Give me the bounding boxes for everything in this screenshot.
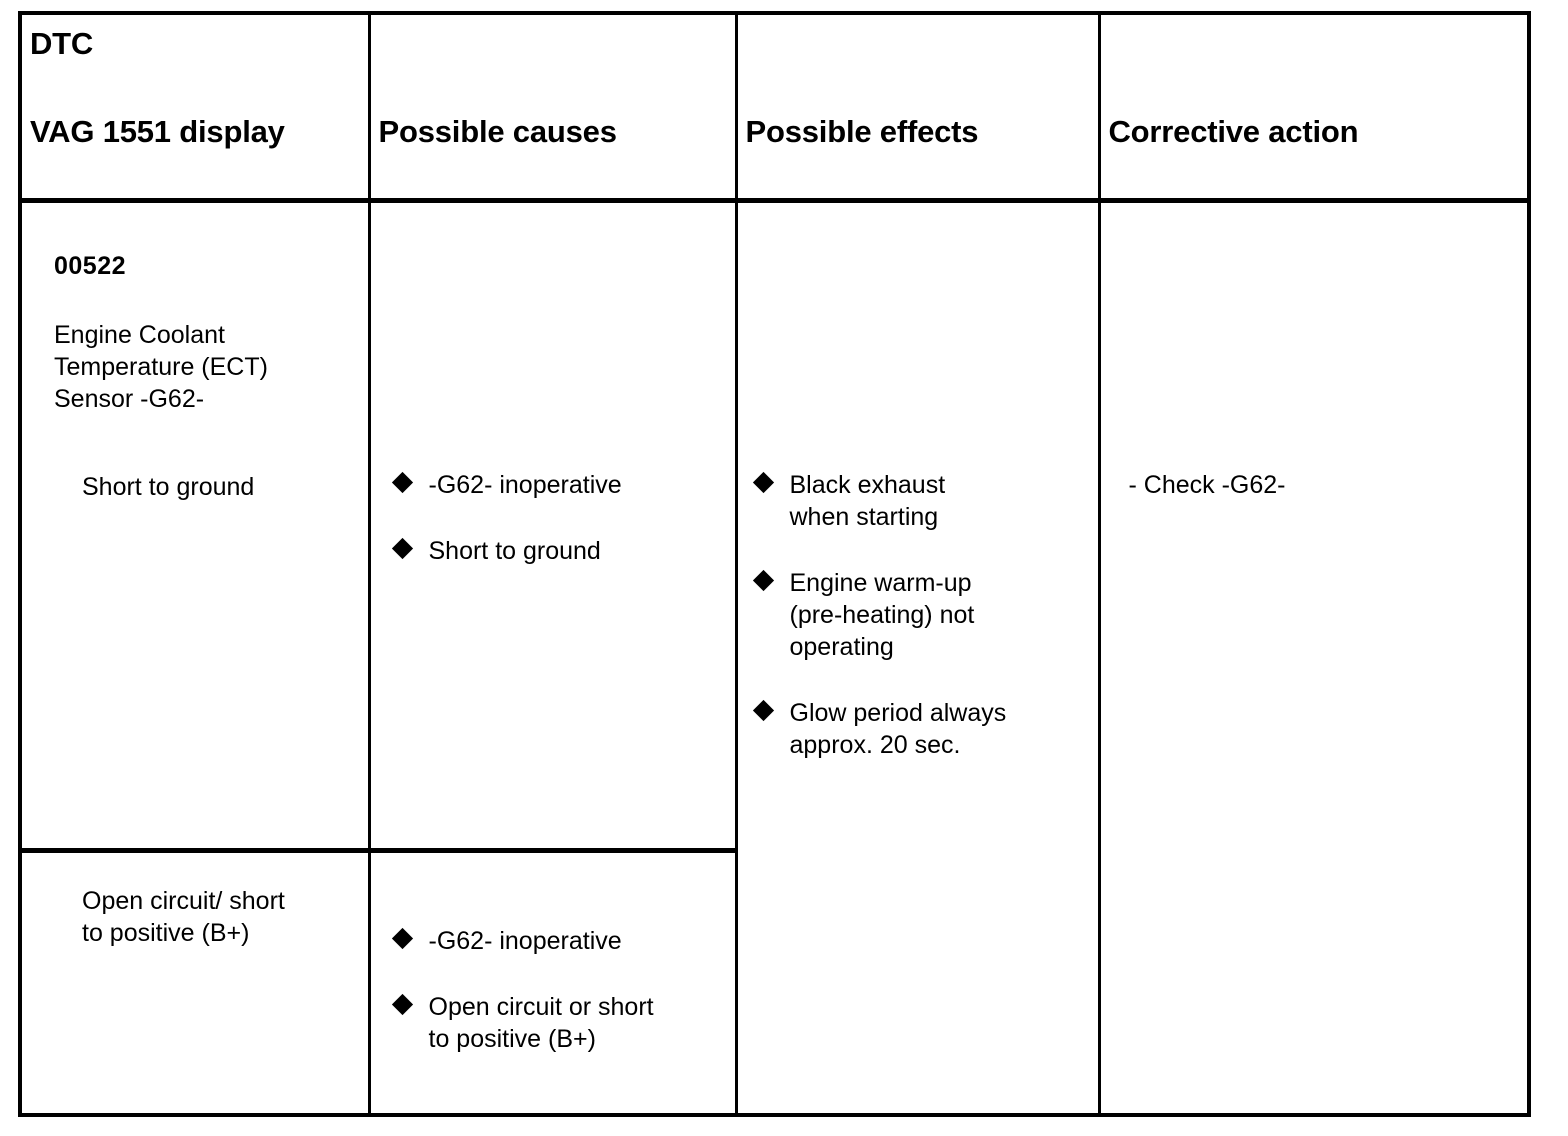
- list-item: Short to ground: [393, 535, 622, 567]
- header-label-vag-display: VAG 1551 display: [30, 115, 285, 149]
- cell-corrective-action: - Check -G62-: [1099, 200, 1529, 1115]
- header-label-possible-causes: Possible causes: [379, 115, 617, 149]
- list-item: Open circuit or short to positive (B+): [393, 991, 654, 1055]
- dtc-code: 00522: [54, 250, 126, 282]
- header-label-possible-effects: Possible effects: [746, 115, 979, 149]
- dtc-fault-table: DTC VAG 1551 display Possible causes Pos…: [18, 11, 1531, 1117]
- list-item-label: Short to ground: [429, 537, 601, 565]
- possible-causes-list: -G62- inoperative Short to ground: [393, 469, 622, 567]
- diamond-bullet-icon: [754, 471, 776, 493]
- cell-dtc-row1: 00522 Engine Coolant Temperature (ECT) S…: [20, 200, 369, 851]
- list-item: -G62- inoperative: [393, 925, 654, 957]
- header-cell-possible-causes: Possible causes: [369, 13, 736, 200]
- diamond-bullet-icon: [754, 569, 776, 591]
- list-item: Engine warm-up (pre-heating) not operati…: [754, 567, 1007, 663]
- header-cell-dtc: DTC VAG 1551 display: [20, 13, 369, 200]
- document-page: DTC VAG 1551 display Possible causes Pos…: [0, 0, 1568, 1136]
- dtc-description: Engine Coolant Temperature (ECT) Sensor …: [54, 319, 268, 415]
- cell-dtc-row2: Open circuit/ short to positive (B+): [20, 851, 369, 1115]
- list-item-label: Open circuit or short to positive (B+): [429, 993, 654, 1053]
- cell-possible-effects: Black exhaust when starting Engine warm-…: [736, 200, 1099, 1115]
- cell-possible-causes-row2: -G62- inoperative Open circuit or short …: [369, 851, 736, 1115]
- diamond-bullet-icon: [754, 699, 776, 721]
- dtc-fault-type: Short to ground: [82, 471, 254, 503]
- table-header-row: DTC VAG 1551 display Possible causes Pos…: [20, 13, 1529, 200]
- header-cell-corrective-action: Corrective action: [1099, 13, 1529, 200]
- list-item: Black exhaust when starting: [754, 469, 1007, 533]
- table-row: 00522 Engine Coolant Temperature (ECT) S…: [20, 200, 1529, 851]
- list-item-label: -G62- inoperative: [429, 471, 622, 499]
- dtc-fault-type: Open circuit/ short to positive (B+): [82, 885, 285, 949]
- list-item-label: Engine warm-up (pre-heating) not operati…: [790, 569, 975, 661]
- possible-causes-list: -G62- inoperative Open circuit or short …: [393, 925, 654, 1055]
- diamond-bullet-icon: [393, 927, 415, 949]
- list-item-label: Black exhaust when starting: [790, 471, 946, 531]
- list-item: -G62- inoperative: [393, 469, 622, 501]
- header-label-dtc-top: DTC: [30, 27, 93, 61]
- corrective-action-item: - Check -G62-: [1129, 469, 1286, 501]
- header-label-corrective-action: Corrective action: [1109, 115, 1359, 149]
- list-item-label: -G62- inoperative: [429, 927, 622, 955]
- diamond-bullet-icon: [393, 993, 415, 1015]
- diamond-bullet-icon: [393, 471, 415, 493]
- diamond-bullet-icon: [393, 537, 415, 559]
- header-cell-possible-effects: Possible effects: [736, 13, 1099, 200]
- list-item-label: Glow period always approx. 20 sec.: [790, 699, 1007, 759]
- cell-possible-causes-row1: -G62- inoperative Short to ground: [369, 200, 736, 851]
- possible-effects-list: Black exhaust when starting Engine warm-…: [754, 469, 1007, 761]
- list-item: Glow period always approx. 20 sec.: [754, 697, 1007, 761]
